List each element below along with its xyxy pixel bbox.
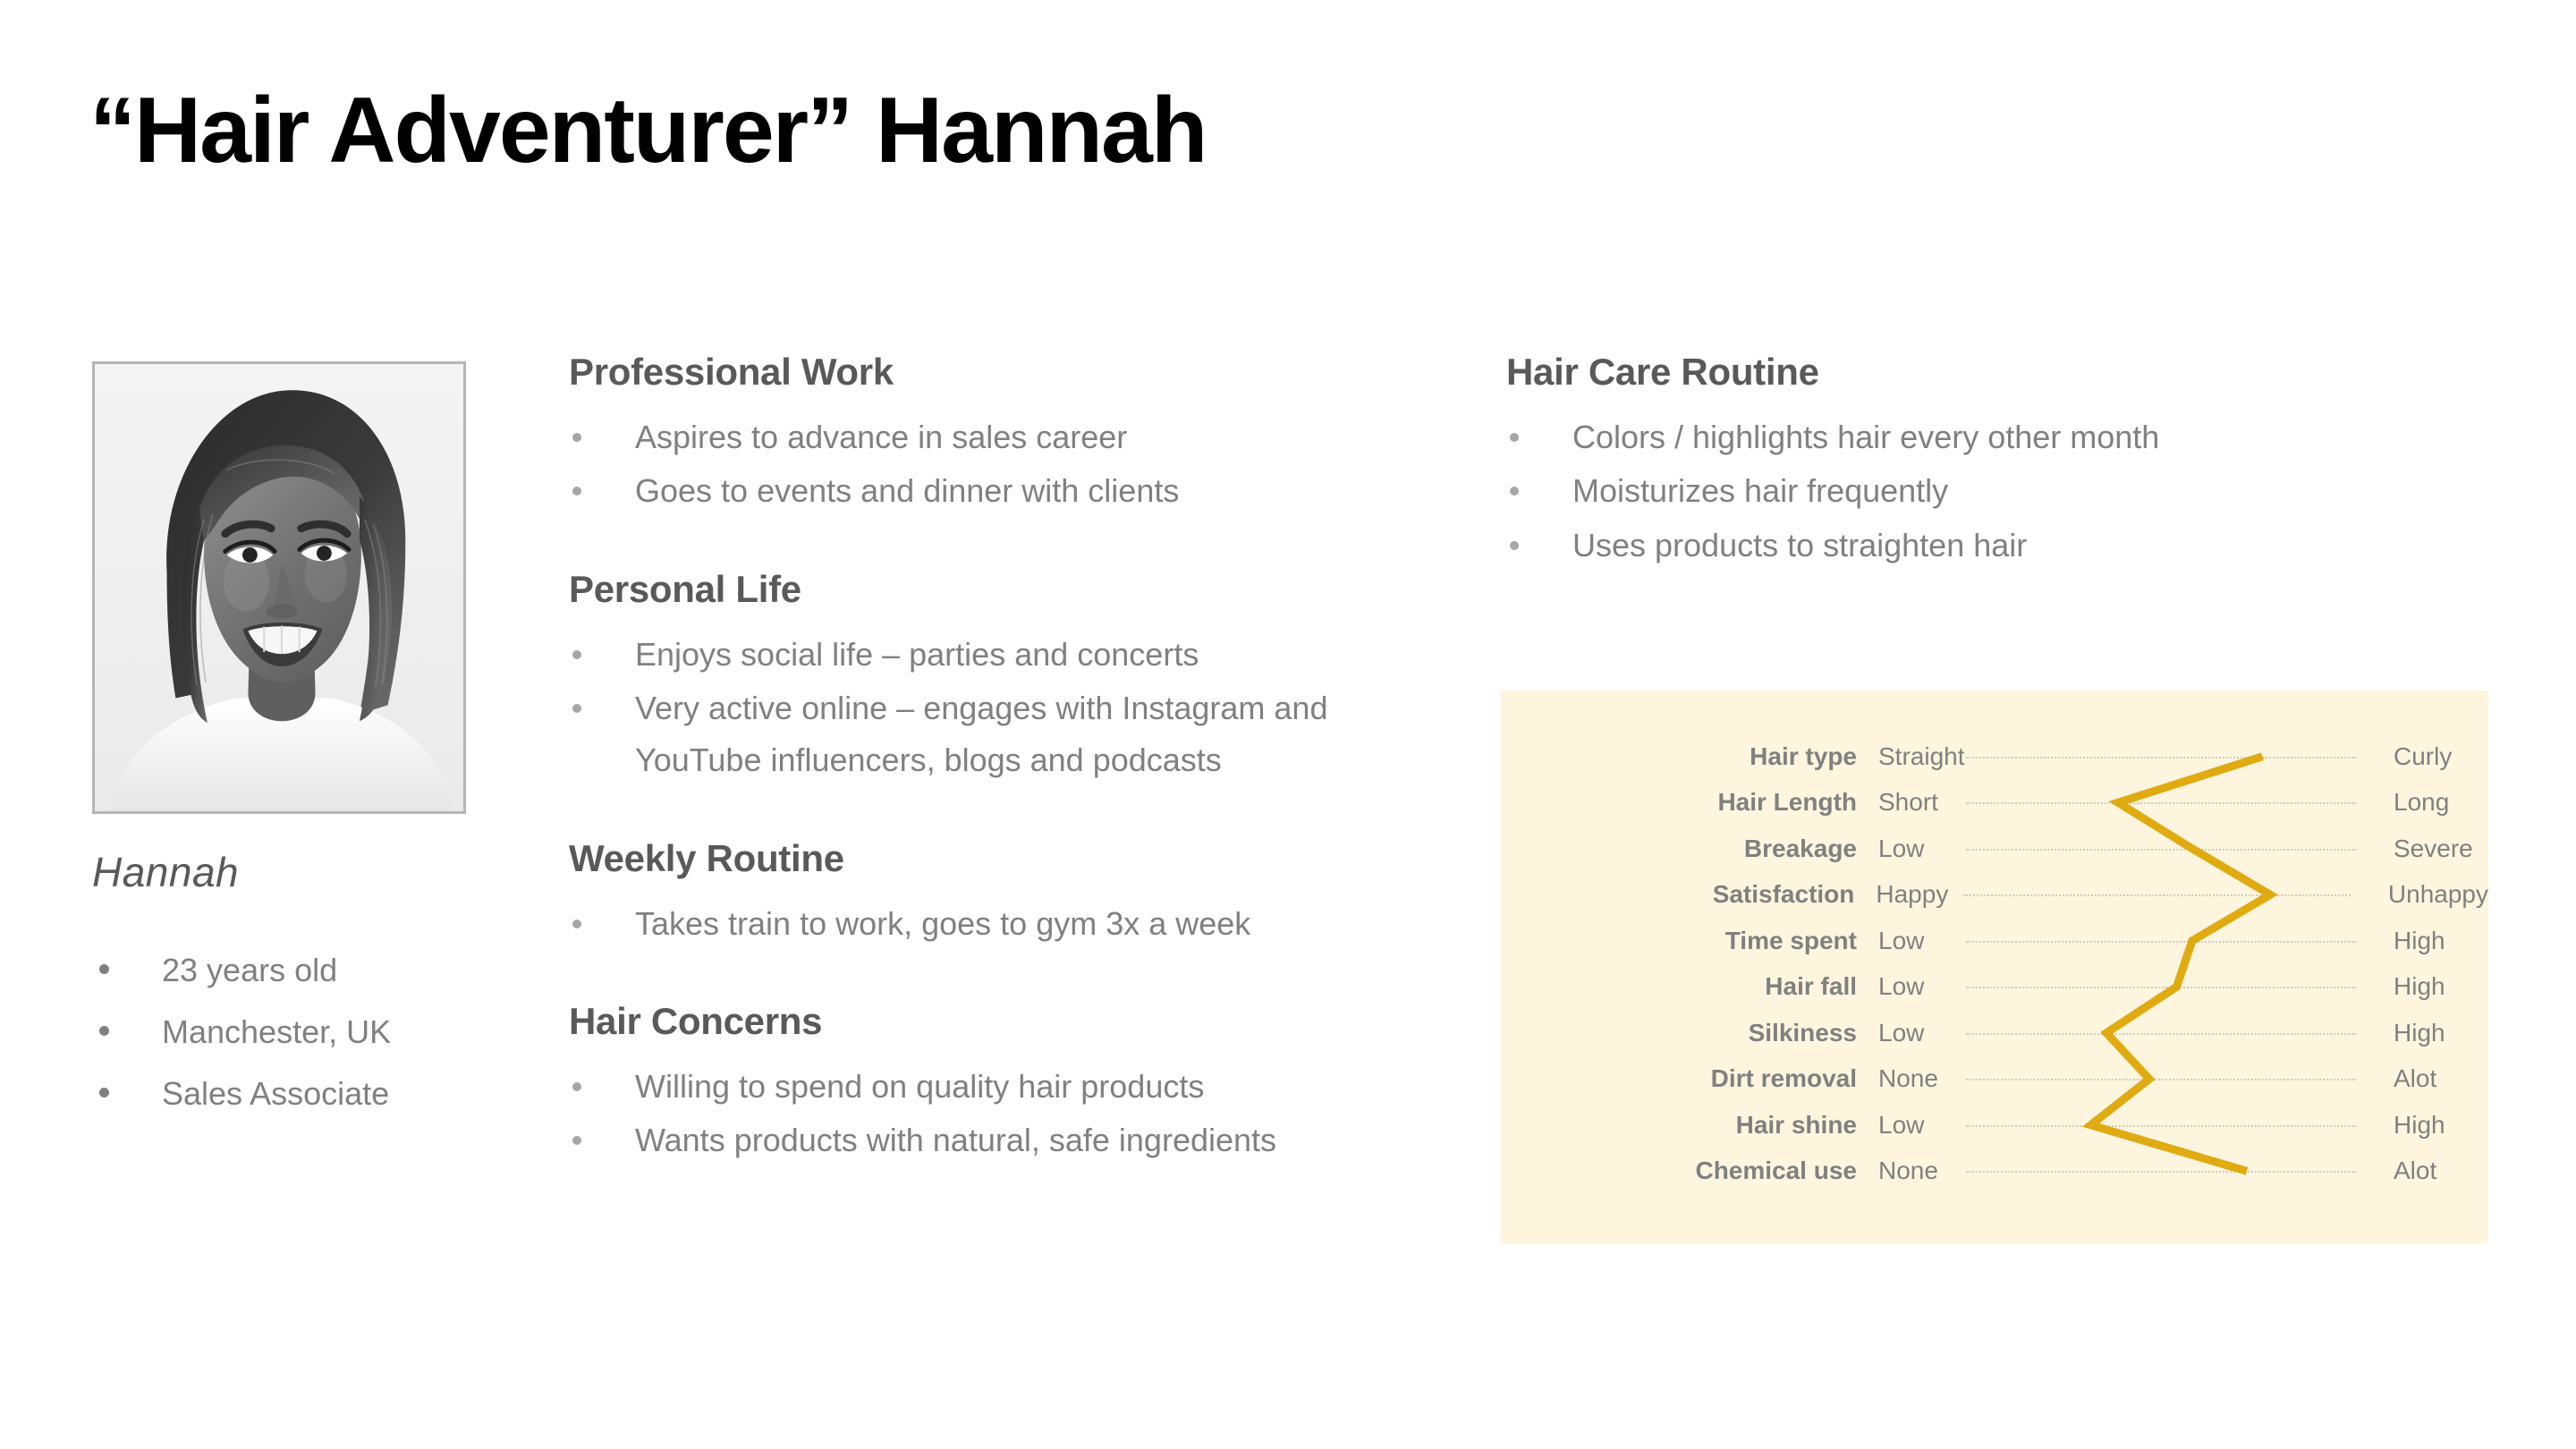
bullet-text: Wants products with natural, safe ingred… — [635, 1122, 1276, 1158]
list-item: Sales Associate — [92, 1063, 593, 1124]
section-heading: Personal Life — [569, 568, 1428, 611]
scale-attribute-label: Time spent — [1501, 927, 1857, 955]
section-bullets: Colors / highlights hair every other mon… — [1506, 411, 2401, 572]
scale-high-label: High — [2356, 972, 2445, 1001]
section-heading: Professional Work — [569, 351, 1428, 394]
scale-attribute-label: Breakage — [1501, 835, 1857, 863]
scale-attribute-label: Silkiness — [1501, 1019, 1857, 1047]
scale-row[interactable]: Dirt removalNoneAlot — [1501, 1056, 2488, 1103]
profile-facts-list: 23 years old Manchester, UK Sales Associ… — [92, 939, 593, 1124]
scale-high-label: Alot — [2356, 1157, 2436, 1185]
scale-low-label: Low — [1857, 1019, 1966, 1047]
scale-row[interactable]: SatisfactionHappyUnhappy — [1501, 872, 2488, 919]
section-bullets: Enjoys social life – parties and concert… — [569, 629, 1428, 787]
section-professional-work: Professional Work Aspires to advance in … — [569, 351, 1428, 518]
scale-low-label: None — [1857, 1064, 1966, 1093]
scale-low-label: Low — [1857, 835, 1966, 863]
scale-track[interactable] — [1966, 780, 2356, 826]
scale-track[interactable] — [1966, 733, 2356, 780]
scale-dotted-rule — [1966, 1033, 2356, 1035]
section-bullets: Takes train to work, goes to gym 3x a we… — [569, 898, 1428, 950]
section-heading: Weekly Routine — [569, 837, 1428, 880]
bullet-dot-icon — [572, 487, 581, 496]
page-title: “Hair Adventurer” Hannah — [89, 82, 1206, 180]
scale-track[interactable] — [1963, 872, 2351, 919]
scale-row[interactable]: Time spentLowHigh — [1501, 918, 2488, 964]
scale-row[interactable]: Hair typeStraightCurly — [1501, 733, 2488, 780]
scale-attribute-label: Hair shine — [1501, 1111, 1857, 1140]
scale-row[interactable]: SilkinessLowHigh — [1501, 1010, 2488, 1056]
scale-dotted-rule — [1966, 1079, 2356, 1080]
bullet-text: Aspires to advance in sales career — [635, 419, 1127, 455]
section-weekly-routine: Weekly Routine Takes train to work, goes… — [569, 837, 1428, 950]
scale-dotted-rule — [1966, 757, 2356, 758]
scale-attribute-label: Hair Length — [1501, 788, 1857, 817]
list-item: Goes to events and dinner with clients — [569, 465, 1428, 517]
scale-track[interactable] — [1966, 1056, 2356, 1103]
bullet-text: Colors / highlights hair every other mon… — [1572, 419, 2159, 455]
scale-dotted-rule — [1963, 894, 2351, 896]
profile-column: Hannah 23 years old Manchester, UK Sales… — [92, 361, 593, 1124]
scale-track[interactable] — [1966, 918, 2356, 964]
scale-high-label: Curly — [2356, 742, 2452, 771]
scale-high-label: High — [2356, 1111, 2445, 1140]
bullet-dot-icon — [1510, 433, 1519, 442]
bullet-text: Willing to spend on quality hair product… — [635, 1068, 1204, 1105]
scale-attribute-label: Hair fall — [1501, 972, 1857, 1001]
list-item: Moisturizes hair frequently — [1506, 465, 2401, 517]
scale-dotted-rule — [1966, 1125, 2356, 1127]
scale-track[interactable] — [1966, 1148, 2356, 1195]
bullet-dot-icon — [572, 433, 581, 442]
bullet-text: Moisturizes hair frequently — [1572, 472, 1948, 509]
scale-row[interactable]: Hair LengthShortLong — [1501, 780, 2488, 826]
scale-row[interactable]: BreakageLowSevere — [1501, 826, 2488, 872]
fact-text: 23 years old — [162, 952, 337, 988]
scale-dotted-rule — [1966, 987, 2356, 988]
portrait-illustration — [95, 364, 463, 811]
fact-text: Manchester, UK — [162, 1013, 391, 1050]
scale-low-label: Happy — [1854, 880, 1962, 909]
bullet-dot-icon — [572, 1136, 581, 1145]
bullet-dot-icon — [99, 1088, 109, 1097]
scale-low-label: Low — [1857, 972, 1966, 1001]
scale-low-label: Low — [1857, 1111, 1966, 1140]
list-item: Aspires to advance in sales career — [569, 411, 1428, 463]
scale-dotted-rule — [1966, 849, 2356, 851]
scale-row[interactable]: Chemical useNoneAlot — [1501, 1148, 2488, 1195]
persona-slide: “Hair Adventurer” Hannah — [0, 0, 2576, 1449]
bullet-text: Very active online – engages with Instag… — [635, 690, 1327, 778]
bullet-dot-icon — [572, 704, 581, 713]
section-heading: Hair Concerns — [569, 1000, 1428, 1043]
section-bullets: Aspires to advance in sales career Goes … — [569, 411, 1428, 518]
bullet-text: Takes train to work, goes to gym 3x a we… — [635, 905, 1250, 942]
list-item: Very active online – engages with Instag… — [569, 682, 1428, 787]
scale-attribute-label: Hair type — [1501, 742, 1857, 771]
section-hair-care-routine: Hair Care Routine Colors / highlights ha… — [1506, 351, 2401, 572]
list-item: Colors / highlights hair every other mon… — [1506, 411, 2401, 463]
bullet-dot-icon — [572, 1082, 581, 1091]
section-personal-life: Personal Life Enjoys social life – parti… — [569, 568, 1428, 787]
bullet-text: Uses products to straighten hair — [1572, 527, 2027, 563]
bullet-dot-icon — [1510, 541, 1519, 550]
scale-dotted-rule — [1966, 941, 2356, 943]
bullet-dot-icon — [99, 964, 109, 974]
scale-low-label: Straight — [1857, 742, 1966, 771]
scale-high-label: Unhappy — [2351, 880, 2488, 909]
scale-track[interactable] — [1966, 1010, 2356, 1056]
person-name: Hannah — [92, 848, 593, 896]
hair-attributes-scale-chart: Hair typeStraightCurlyHair LengthShortLo… — [1501, 691, 2488, 1243]
bullet-dot-icon — [99, 1026, 109, 1036]
scale-attribute-label: Dirt removal — [1501, 1064, 1857, 1093]
fact-text: Sales Associate — [162, 1075, 389, 1112]
scale-row[interactable]: Hair shineLowHigh — [1501, 1102, 2488, 1148]
scale-track[interactable] — [1966, 964, 2356, 1011]
list-item: Willing to spend on quality hair product… — [569, 1061, 1428, 1113]
scale-attribute-label: Chemical use — [1501, 1157, 1857, 1185]
section-heading: Hair Care Routine — [1506, 351, 2401, 394]
section-bullets: Willing to spend on quality hair product… — [569, 1061, 1428, 1167]
scale-high-label: Long — [2356, 788, 2449, 817]
list-item: Takes train to work, goes to gym 3x a we… — [569, 898, 1428, 950]
scale-high-label: Severe — [2356, 835, 2473, 863]
scale-low-label: Short — [1857, 788, 1966, 817]
scale-high-label: High — [2356, 927, 2445, 955]
bullet-dot-icon — [572, 919, 581, 928]
scale-high-label: High — [2356, 1019, 2445, 1047]
scale-attribute-label: Satisfaction — [1501, 880, 1854, 909]
list-item: Uses products to straighten hair — [1506, 520, 2401, 572]
scale-rows: Hair typeStraightCurlyHair LengthShortLo… — [1501, 733, 2488, 1194]
list-item: Manchester, UK — [92, 1001, 593, 1063]
list-item: Enjoys social life – parties and concert… — [569, 629, 1428, 681]
right-column: Hair Care Routine Colors / highlights ha… — [1506, 351, 2401, 573]
scale-low-label: None — [1857, 1157, 1966, 1185]
profile-photo — [92, 361, 466, 814]
bullet-dot-icon — [572, 650, 581, 659]
scale-row[interactable]: Hair fallLowHigh — [1501, 964, 2488, 1011]
list-item: 23 years old — [92, 939, 593, 1001]
scale-low-label: Low — [1857, 927, 1966, 955]
bullet-text: Enjoys social life – parties and concert… — [635, 636, 1199, 673]
middle-column: Professional Work Aspires to advance in … — [569, 351, 1428, 1169]
scale-high-label: Alot — [2356, 1064, 2436, 1093]
bullet-text: Goes to events and dinner with clients — [635, 472, 1179, 509]
scale-track[interactable] — [1966, 1102, 2356, 1148]
scale-dotted-rule — [1966, 1171, 2356, 1173]
scale-dotted-rule — [1966, 802, 2356, 804]
bullet-dot-icon — [1510, 487, 1519, 496]
scale-track[interactable] — [1966, 826, 2356, 872]
section-hair-concerns: Hair Concerns Willing to spend on qualit… — [569, 1000, 1428, 1167]
list-item: Wants products with natural, safe ingred… — [569, 1114, 1428, 1166]
